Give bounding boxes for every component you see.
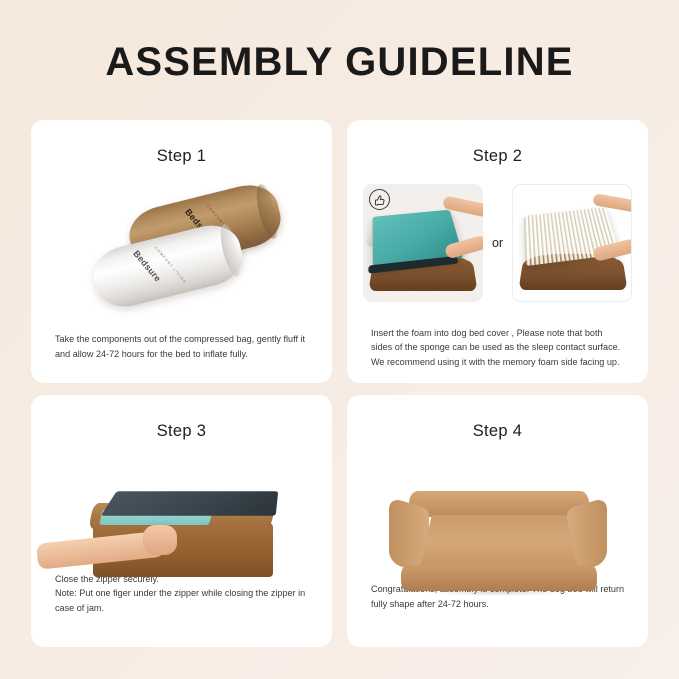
step-1-artwork: Bedsure COMFORT LIVING Bedsure COMFORT L… (31, 166, 332, 332)
step-card-2: Step 2 (347, 120, 648, 383)
cover-panel (101, 491, 278, 516)
steps-grid: Step 1 Bedsure COMFORT LIVING Bedsure CO… (31, 120, 648, 647)
step-2-heading: Step 2 (473, 147, 523, 166)
step-3-heading: Step 3 (157, 422, 207, 441)
step-card-3: Step 3 Close the zipper securely. Note: … (31, 395, 332, 647)
bed-shadow (429, 589, 569, 596)
step-card-4: Step 4 Congratulations, assembly is comp… (347, 395, 648, 647)
step-3-artwork (31, 441, 332, 572)
bed-front-edge (401, 565, 597, 591)
step-card-1: Step 1 Bedsure COMFORT LIVING Bedsure CO… (31, 120, 332, 383)
bolster-back (409, 491, 589, 517)
step-2-caption: Insert the foam into dog bed cover , Ple… (347, 326, 648, 369)
teal-foam-slab (373, 210, 464, 268)
compressed-vacuum-rolls: Bedsure COMFORT LIVING Bedsure COMFORT L… (31, 180, 332, 330)
or-separator: or (483, 236, 512, 250)
step-1-caption: Take the components out of the compresse… (31, 332, 332, 361)
finished-dog-bed (347, 475, 648, 615)
zipper-closing (31, 481, 332, 601)
step-1-heading: Step 1 (157, 147, 207, 166)
thumbs-up-icon (369, 189, 390, 210)
step-2-artwork: or (347, 166, 648, 326)
page-title: ASSEMBLY GUIDELINE (0, 40, 679, 85)
hand-gripping-zipper (143, 525, 177, 555)
teal-foam-side-panel (363, 184, 483, 302)
foam-insertion-options: or (363, 184, 632, 302)
step-4-artwork (347, 441, 648, 582)
step-4-heading: Step 4 (473, 422, 523, 441)
memory-foam-side-panel (512, 184, 632, 302)
dog-bed (385, 485, 611, 601)
